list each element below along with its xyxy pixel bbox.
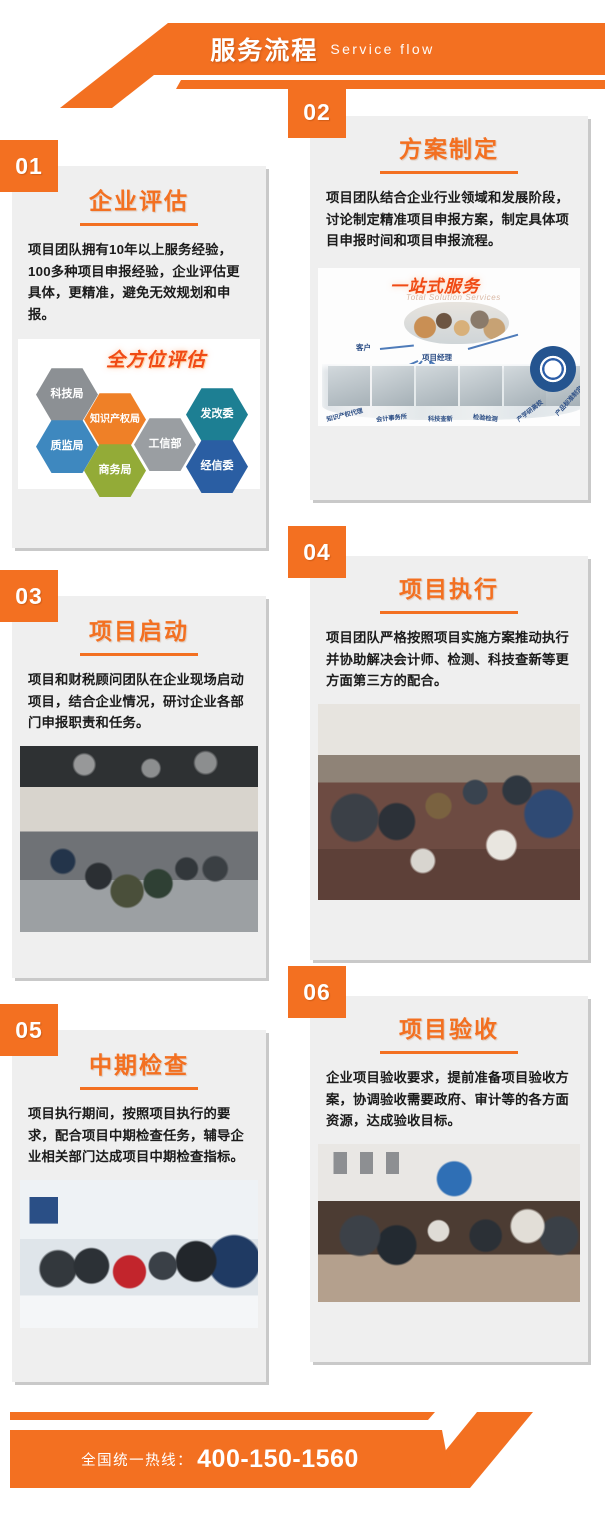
page-footer: 全国统一热线： 400-150-1560 <box>0 1412 605 1498</box>
step-title-04: 项目执行 <box>310 556 588 604</box>
hex-node-jingxin: 经信委 <box>186 439 248 494</box>
one-stop-node-manager: 项目经理 <box>422 352 452 363</box>
step-card-06[interactable]: 06 项目验收 企业项目验收要求，提前准备项目验收方案，协调验收需要政府、审计等… <box>310 996 588 1362</box>
service-thumb <box>372 366 414 406</box>
header-title-group: 服务流程 Service flow <box>0 23 605 75</box>
step-number-badge-02: 02 <box>288 86 346 138</box>
service-thumb <box>460 366 502 406</box>
step-number-badge-05: 05 <box>0 1004 58 1056</box>
page-title-english: Service flow <box>330 41 434 57</box>
flow-arrow <box>380 344 414 350</box>
step-photo-03 <box>20 746 258 932</box>
service-thumb <box>416 366 458 406</box>
certification-seal-icon <box>530 346 576 392</box>
step-body-02: 项目团队结合企业行业领域和发展阶段，讨论制定精准项目申报方案，制定具体项目申报时… <box>310 174 588 264</box>
step-title-06: 项目验收 <box>310 996 588 1044</box>
hex-node-fagai: 发改委 <box>186 387 248 442</box>
step-card-01[interactable]: 01 企业评估 项目团队拥有10年以上服务经验，100多种项目申报经验，企业评估… <box>12 166 266 548</box>
step-body-06: 企业项目验收要求，提前准备项目验收方案，协调验收需要政府、审计等的各方面资源，达… <box>310 1054 588 1144</box>
hexagon-diagram-title: 全方位评估 <box>106 345 206 372</box>
step-card-03[interactable]: 03 项目启动 项目和财税顾问团队在企业现场启动项目，结合企业情况，研讨企业各部… <box>12 596 266 978</box>
step-photo-05 <box>20 1180 258 1328</box>
one-stop-service-diagram: 一站式服务 Total Solution Services 客户 项目经理 知识… <box>318 268 580 426</box>
step-card-04[interactable]: 04 项目执行 项目团队严格按照项目实施方案推动执行并协助解决会计师、检测、科技… <box>310 556 588 960</box>
step-photo-04 <box>318 704 580 900</box>
one-stop-item-testing: 检验检测 <box>473 411 499 423</box>
step-number-badge-03: 03 <box>0 570 58 622</box>
hotline-label: 全国统一热线： <box>81 1449 193 1470</box>
step-number-badge-06: 06 <box>288 966 346 1018</box>
step-card-02[interactable]: 02 方案制定 项目团队结合企业行业领域和发展阶段，讨论制定精准项目申报方案，制… <box>310 116 588 500</box>
hotline-number[interactable]: 400-150-1560 <box>197 1445 359 1474</box>
step-body-03: 项目和财税顾问团队在企业现场启动项目，结合企业情况，研讨企业各部门申报职责和任务… <box>12 656 266 746</box>
step-title-02: 方案制定 <box>310 116 588 164</box>
hotline-group: 全国统一热线： 400-150-1560 <box>10 1430 430 1488</box>
step-card-05[interactable]: 05 中期检查 项目执行期间，按照项目执行的要求，配合项目中期检查任务，辅导企业… <box>12 1030 266 1382</box>
hex-node-gongxin: 工信部 <box>134 417 196 472</box>
step-body-04: 项目团队严格按照项目实施方案推动执行并协助解决会计师、检测、科技查新等更方面第三… <box>310 614 588 704</box>
step-number-badge-01: 01 <box>0 140 58 192</box>
page-title: 服务流程 <box>210 31 318 67</box>
step-body-01: 项目团队拥有10年以上服务经验，100多种项目申报经验，企业评估更具体，更精准，… <box>12 226 266 337</box>
assessment-hexagon-diagram: 全方位评估 科技局 知识产权局 质监局 工信部 商务局 发改委 经信委 <box>18 339 260 489</box>
one-stop-item-novelty: 科技查新 <box>428 414 453 423</box>
step-photo-06 <box>318 1144 580 1302</box>
one-stop-subtitle: Total Solution Services <box>406 293 501 302</box>
one-stop-node-customer: 客户 <box>356 342 371 353</box>
step-body-05: 项目执行期间，按照项目执行的要求，配合项目中期检查任务，辅导企业相关部门达成项目… <box>12 1090 266 1180</box>
service-thumb <box>328 366 370 406</box>
step-number-badge-04: 04 <box>288 526 346 578</box>
one-stop-team-photo <box>404 302 509 344</box>
